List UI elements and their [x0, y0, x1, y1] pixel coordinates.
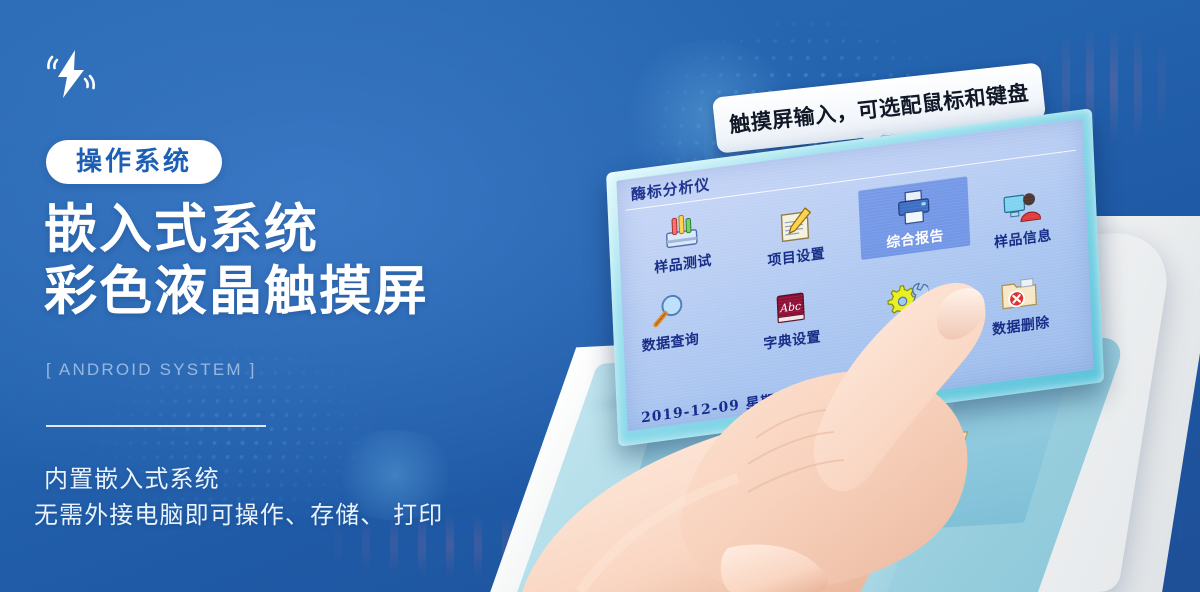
screen-tile-comprehensive-report[interactable]: 综合报告 [858, 176, 970, 260]
screen-tile-project-settings[interactable]: 项目设置 [739, 198, 851, 274]
os-badge: 操作系统 [46, 140, 222, 184]
touchscreen[interactable]: 酶标分析仪 [616, 119, 1093, 432]
device-illustration: 综合报告 样品信息 系统设置 数据删除 2019-12-09 星期一 10:19… [430, 120, 1200, 592]
subtitle-english: [ ANDROID SYSTEM ] [46, 360, 257, 380]
screen-tile-sample-info[interactable]: 样品信息 [966, 180, 1078, 256]
promo-banner: 操作系统 嵌入式系统 彩色液晶触摸屏 [ ANDROID SYSTEM ] 内置… [0, 0, 1200, 592]
divider [46, 425, 266, 427]
screen-tile-data-delete[interactable]: 数据删除 [964, 267, 1076, 343]
screen-tile-sample-test[interactable]: 样品测试 [626, 205, 738, 281]
screen-tile-dictionary[interactable]: Abc 字典设置 [735, 281, 847, 357]
screen-tile-system-settings[interactable]: 系统设置 [853, 274, 965, 350]
os-badge-label: 操作系统 [76, 148, 192, 174]
lightning-signal-icon [44, 48, 98, 100]
screen-tile-data-query[interactable]: 数据查询 [616, 284, 725, 360]
